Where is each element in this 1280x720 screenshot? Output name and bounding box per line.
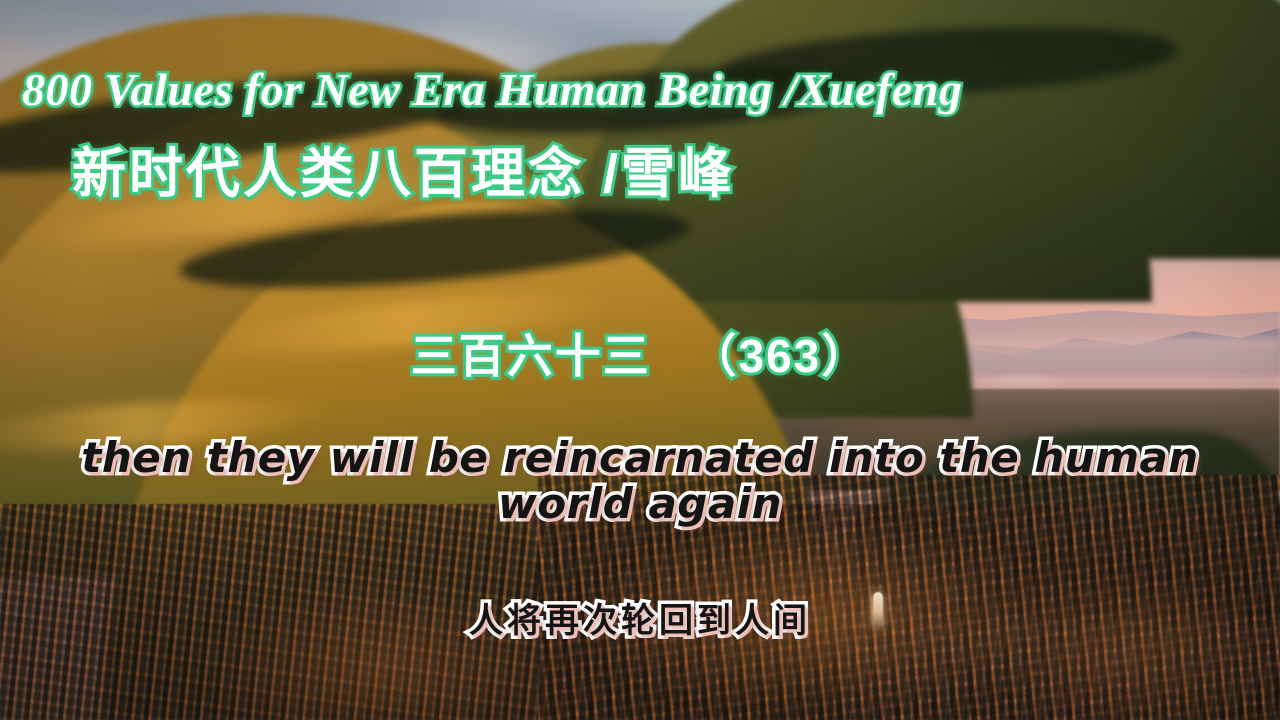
subtitle-chinese: 人将再次轮回到人间 <box>469 604 811 640</box>
subtitle-english: then they will be reincarnated into the … <box>0 436 1280 526</box>
title-chinese: 新时代人类八百理念 /雪峰 <box>72 146 735 203</box>
chapter-number: 三百六十三 （363） <box>411 332 870 380</box>
subtitle-english-line1: then they will be reincarnated into the … <box>81 433 1198 482</box>
video-frame: 800 Values for New Era Human Being /Xuef… <box>0 0 1280 720</box>
subtitle-english-line2: world again <box>0 482 1280 526</box>
title-english: 800 Values for New Era Human Being /Xuef… <box>22 66 962 114</box>
